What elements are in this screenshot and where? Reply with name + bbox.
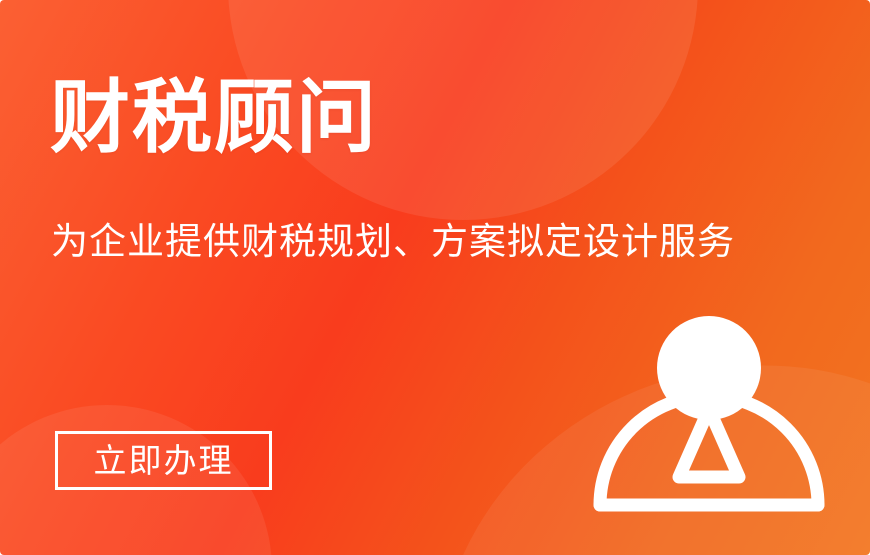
banner-content: 财税顾问 为企业提供财税规划、方案拟定设计服务 立即办理 (0, 0, 870, 555)
person-tie-icon (679, 409, 739, 477)
person-advisor-icon (592, 306, 828, 516)
banner-headline: 财税顾问 (50, 78, 378, 158)
apply-now-button[interactable]: 立即办理 (55, 431, 272, 490)
banner-subheadline: 为企业提供财税规划、方案拟定设计服务 (51, 220, 735, 264)
promo-banner: 财税顾问 为企业提供财税规划、方案拟定设计服务 立即办理 (0, 0, 870, 555)
person-advisor-icon-svg (592, 306, 828, 516)
